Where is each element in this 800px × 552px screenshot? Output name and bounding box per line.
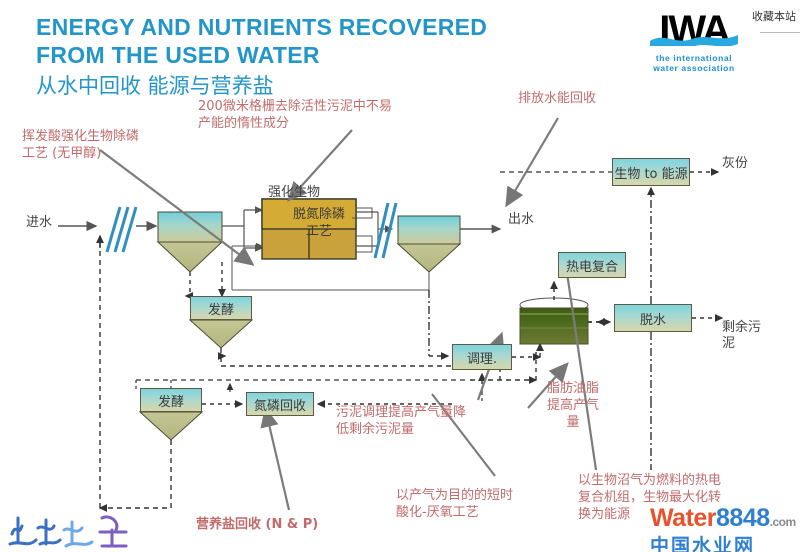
iwa-logo-subtitle: the international water association [648, 53, 740, 73]
watermark-dotcom: .com [770, 515, 796, 529]
np-recovery-unit-label: 氮磷回收 [254, 395, 306, 414]
dewatering-unit-label: 脱水 [640, 309, 666, 328]
chp-unit[interactable]: 热电复合 [558, 252, 626, 278]
watermark-right-logo: Water8848.com 中国水业网 [650, 505, 800, 552]
biosolids-to-energy-unit-label: 生物 to 能源 [614, 163, 687, 182]
iwa-wave-icon [650, 32, 738, 46]
watermark-water-word: Water [650, 504, 716, 532]
dewatering-unit[interactable]: 脱水 [614, 304, 692, 332]
secondary-clarifier [398, 216, 460, 272]
secondary-screen-icon [375, 203, 396, 258]
label-ash: 灰份 [722, 156, 748, 172]
label-influent: 进水 [26, 215, 52, 231]
label-bio-enhanced: 强化生物 [268, 185, 320, 201]
conditioning-unit[interactable]: 调理. [452, 344, 512, 370]
anno-vfa-bio-p: 挥发酸强化生物除磷 工艺 (无甲醇) [22, 128, 202, 162]
primary-clarifier [158, 212, 222, 272]
inlet-screen-icon [107, 207, 136, 252]
title-english-line2: FROM THE USED WATER [36, 42, 320, 69]
bioreactor-process-label: 脱氮除磷 工艺 [286, 205, 352, 241]
iwa-logo-subtitle-line1: the international [648, 53, 740, 63]
watermark-digits: 8848 [716, 504, 770, 532]
watermark-left-icon [6, 500, 136, 550]
title-english-line1: ENERGY AND NUTRIENTS RECOVERED [36, 14, 487, 41]
iwa-logo: IWA the international water association [648, 8, 740, 78]
fermentation-tank-2[interactable]: 发酵 [140, 388, 202, 412]
anaerobic-digester [520, 298, 588, 344]
np-recovery-unit[interactable]: 氮磷回收 [246, 392, 314, 416]
anno-screen-200um: 200微米格栅去除活性污泥中不易 产能的惰性成分 [198, 98, 438, 132]
corner-bookmark-text[interactable]: 收藏本站 [752, 8, 800, 24]
iwa-logo-subtitle-line2: water association [648, 63, 740, 73]
watermark-right-text: Water8848.com [650, 505, 800, 535]
chp-unit-label: 热电复合 [566, 256, 618, 275]
anno-sludge-conditioning: 污泥调理提高产气量降 低剩余污泥量 [336, 404, 516, 438]
bioreactor-process-label-text: 脱氮除磷 工艺 [293, 206, 345, 240]
label-residual-sludge: 剩余污 泥 [722, 320, 761, 352]
anno-short-acidification: 以产气为目的的短时 酸化-厌氧工艺 [396, 487, 576, 521]
title-chinese: 从水中回收 能源与营养盐 [36, 70, 274, 100]
anno-fog: 脂肪油脂 提高产气 量 [542, 380, 604, 431]
anno-effluent-energy: 排放水能回收 [518, 90, 648, 107]
watermark-left-calligraphy [6, 500, 136, 550]
iwa-logo-mark: IWA [648, 8, 740, 52]
fermentation-tank-2-label: 发酵 [158, 391, 184, 410]
biosolids-to-energy-unit[interactable]: 生物 to 能源 [612, 158, 690, 186]
corner-divider [760, 32, 800, 33]
anno-nutrient-recovery: 营养盐回收 (N & P) [196, 516, 396, 533]
conditioning-unit-label: 调理. [467, 348, 497, 367]
watermark-chinese-name: 中国水业网 [650, 535, 800, 552]
fermentation-tank-1-label: 发酵 [208, 299, 234, 318]
fermentation-tank-1[interactable]: 发酵 [190, 296, 252, 320]
slide-canvas: ENERGY AND NUTRIENTS RECOVERED FROM THE … [0, 0, 800, 552]
label-effluent: 出水 [508, 212, 534, 228]
